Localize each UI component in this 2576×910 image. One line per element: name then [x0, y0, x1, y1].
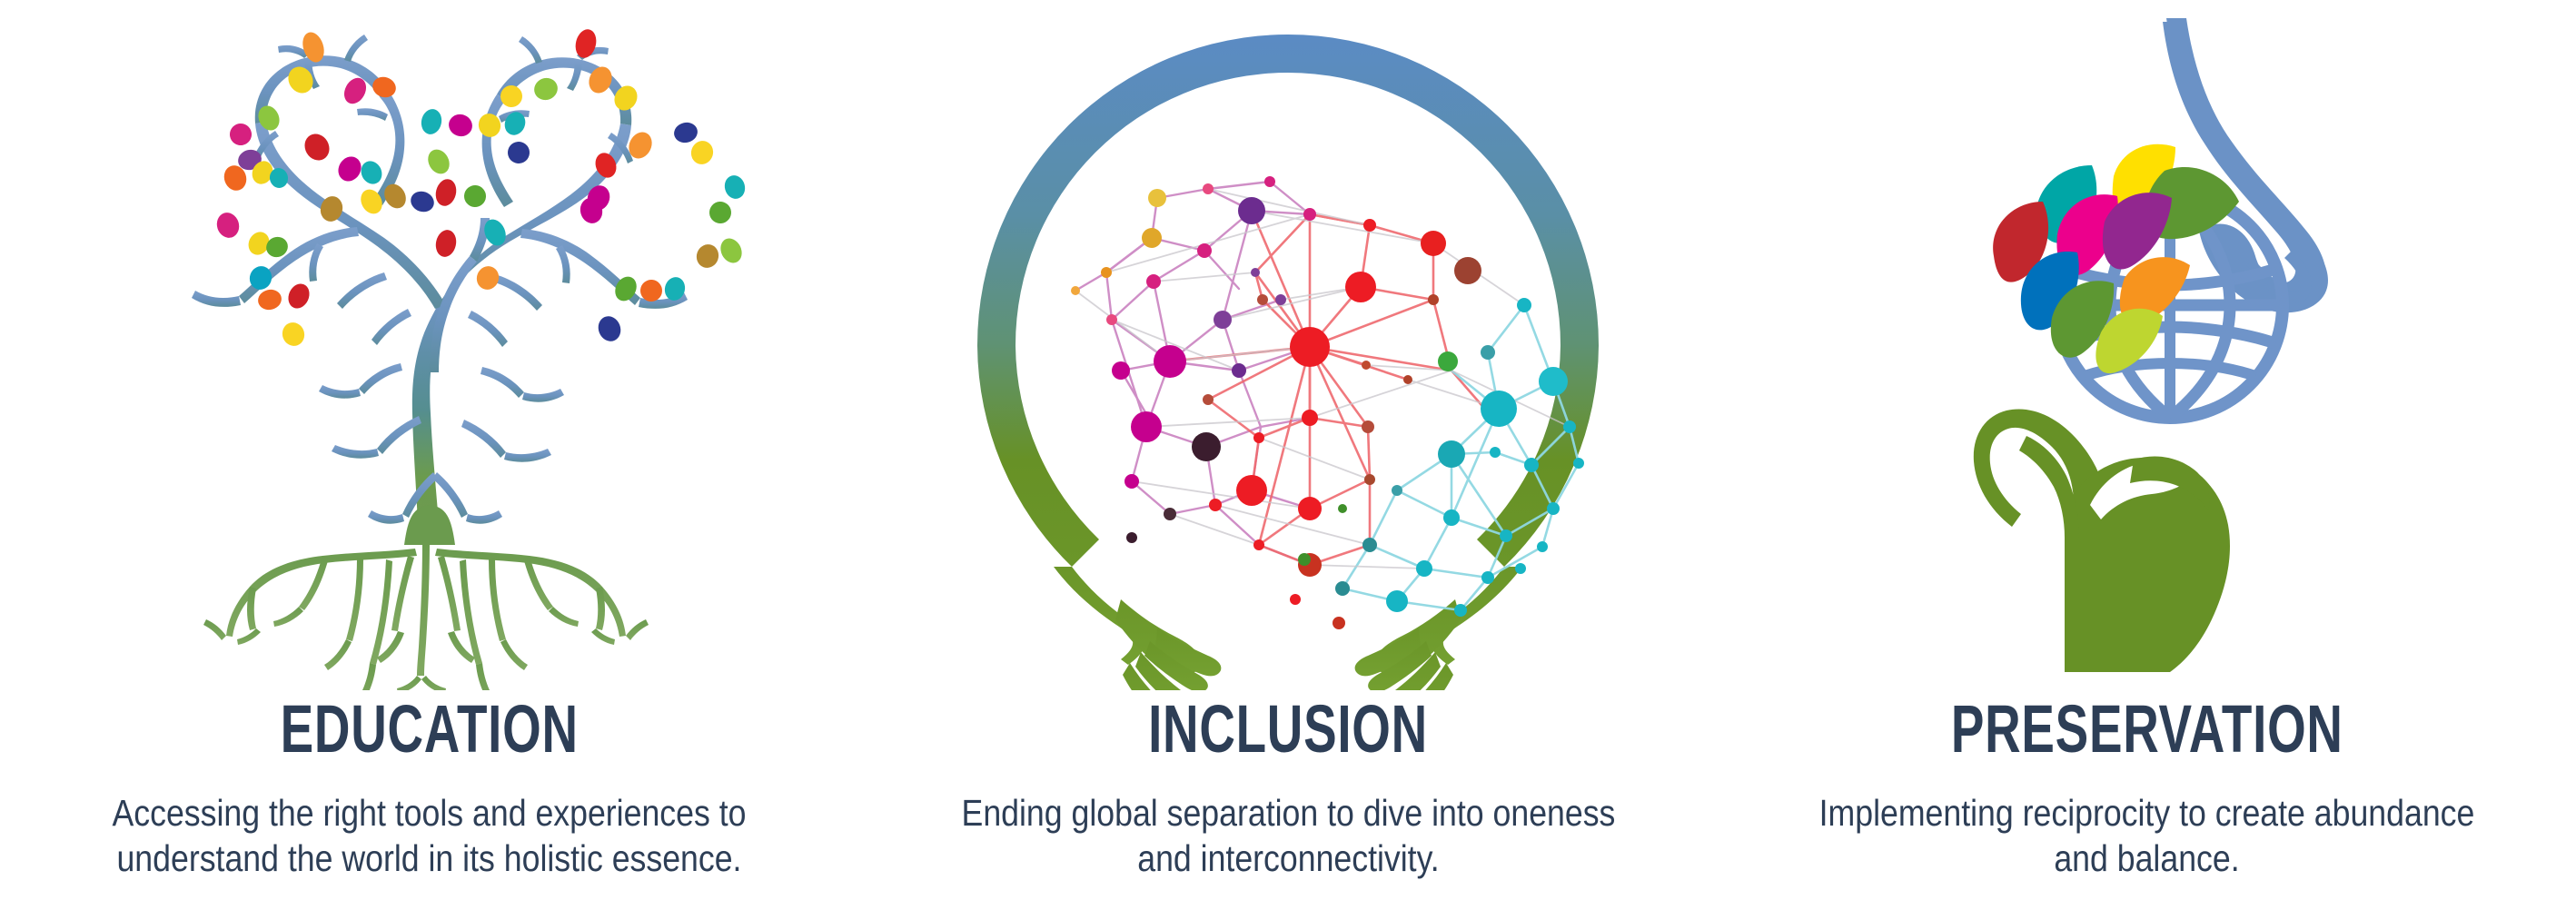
hands-cradling-network-globe-icon — [858, 0, 1717, 690]
card-title-inclusion: INCLUSION — [1148, 696, 1428, 763]
colorful-leaves-cluster — [1993, 144, 2239, 373]
card-description-inclusion: Ending global separation to dive into on… — [885, 790, 1691, 881]
heart-tree-with-roots-icon — [0, 0, 858, 690]
lower-green-hand — [1974, 409, 2230, 672]
right-cradling-hand — [1355, 567, 1522, 690]
two-hands-holding-globe-with-leaves-icon — [1718, 0, 2576, 690]
card-title-preservation: PRESERVATION — [1950, 696, 2343, 763]
three-pillars-board: EDUCATION Accessing the right tools and … — [0, 0, 2576, 910]
tree-roots — [203, 541, 649, 690]
card-description-education: Accessing the right tools and experience… — [26, 790, 833, 881]
card-preservation: PRESERVATION Implementing reciprocity to… — [1718, 0, 2576, 910]
gradient-circle-arc — [977, 35, 1599, 567]
card-description-preservation: Implementing reciprocity to create abund… — [1743, 790, 2550, 881]
card-title-education: EDUCATION — [281, 696, 579, 763]
left-cradling-hand — [1054, 567, 1221, 690]
card-inclusion: INCLUSION Ending global separation to di… — [858, 0, 1717, 910]
card-education: EDUCATION Accessing the right tools and … — [0, 0, 858, 910]
